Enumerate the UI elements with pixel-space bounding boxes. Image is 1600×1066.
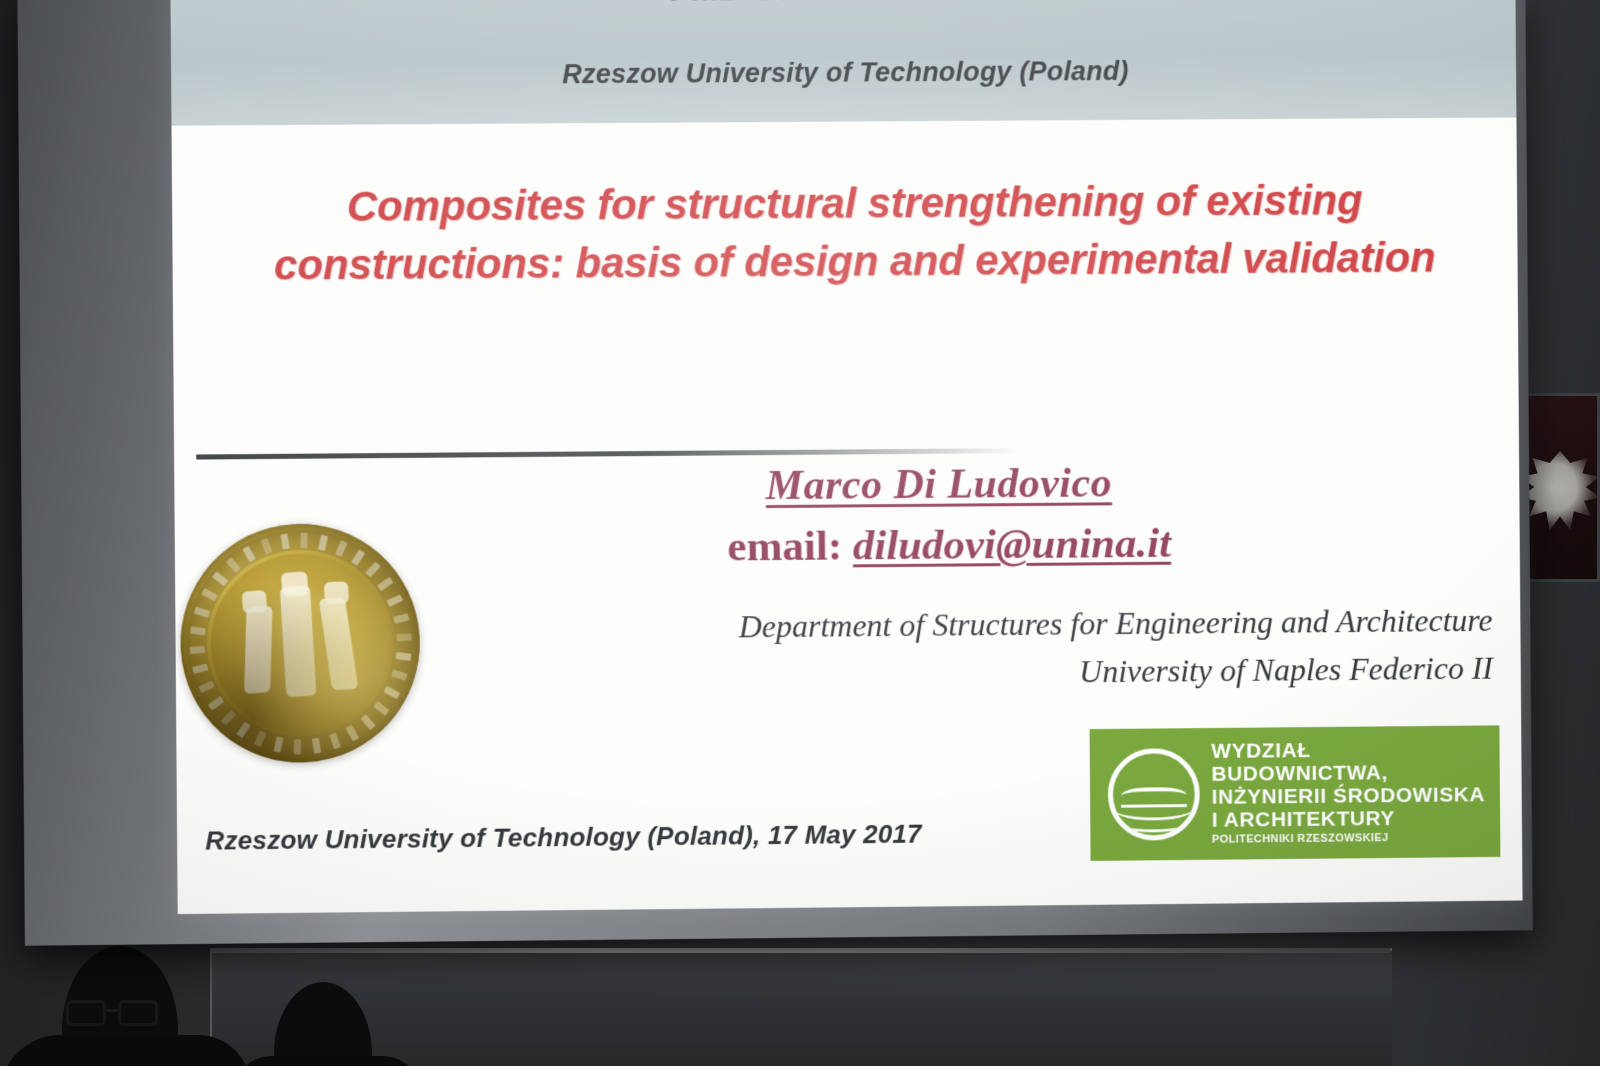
slide-header-band: Ph.D Course – Seminar Rzeszow University… (170, 0, 1516, 126)
email-label: email: (727, 522, 842, 570)
course-title: Ph.D Course – Seminar (170, 0, 1515, 9)
faculty-logo: WYDZIAŁ BUDOWNICTWA, INŻYNIERII ŚRODOWIS… (1090, 725, 1501, 861)
audience-shoulders-left (0, 1035, 250, 1066)
faculty-line-4: I ARCHITEKTURY (1212, 806, 1494, 832)
whiteboard (210, 948, 1392, 1066)
affiliation-line-2: University of Naples Federico II (427, 644, 1493, 701)
whiteboard-rail (210, 948, 1390, 953)
glasses-lens-left (66, 1000, 106, 1026)
audience-shoulders-right (232, 1056, 422, 1066)
wave-line-3 (1115, 823, 1193, 841)
horizontal-divider (196, 448, 1017, 459)
glasses-lens-right (118, 1000, 158, 1026)
author-name: Marco Di Ludovico (476, 457, 1401, 512)
author-email-line: email: diludovi@unina.it (476, 517, 1421, 574)
slide-footer: Rzeszow University of Technology (Poland… (205, 819, 922, 857)
projection-screen-frame: Ph.D Course – Seminar Rzeszow University… (17, 0, 1532, 946)
faculty-line-2: BUDOWNICTWA, (1211, 760, 1493, 786)
faculty-line-1: WYDZIAŁ (1211, 737, 1493, 763)
faculty-logo-mark-icon (1108, 748, 1200, 841)
seal-shading (174, 517, 427, 770)
email-address[interactable]: diludovi@unina.it (853, 520, 1172, 570)
lecture-room-photo: Ph.D Course – Seminar Rzeszow University… (0, 0, 1600, 1066)
presentation-slide: Ph.D Course – Seminar Rzeszow University… (170, 0, 1522, 914)
affiliation-block: Department of Structures for Engineering… (426, 596, 1493, 701)
faculty-subline: POLITECHNIKI RZESZOWSKIEJ (1212, 830, 1494, 847)
institution-title: Rzeszow University of Technology (Poland… (171, 54, 1516, 93)
glasses-icon (66, 1000, 162, 1026)
university-seal-image (174, 517, 427, 770)
faculty-line-3: INŻYNIERII ŚRODOWISKA (1212, 783, 1494, 809)
slide-main-title: Composites for structural strengthening … (232, 171, 1476, 295)
faculty-logo-text: WYDZIAŁ BUDOWNICTWA, INŻYNIERII ŚRODOWIS… (1211, 737, 1494, 846)
